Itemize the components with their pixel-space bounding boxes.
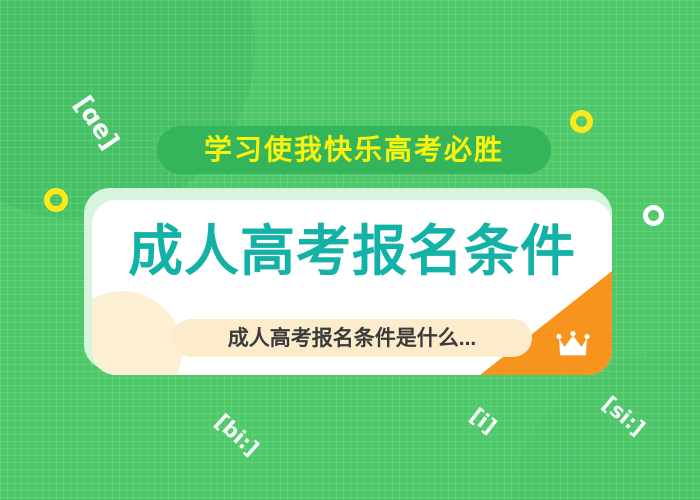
crown-icon xyxy=(556,331,590,357)
yellow-ring-top-right-icon xyxy=(570,110,593,133)
card-subtitle-text: 成人高考报名条件是什么... xyxy=(228,328,477,349)
poster-canvas: [ɑe] [bi:] [i] [si:] 学习使我快乐高考必胜 成人高考报名条件… xyxy=(0,0,700,500)
white-ring-right-icon xyxy=(643,205,664,226)
slogan-banner: 学习使我快乐高考必胜 xyxy=(157,126,551,174)
card-title: 成人高考报名条件 xyxy=(92,224,612,279)
yellow-ring-left-icon xyxy=(44,188,68,212)
slogan-text: 学习使我快乐高考必胜 xyxy=(204,136,504,164)
main-card: 成人高考报名条件 成人高考报名条件是什么... xyxy=(92,200,612,375)
card-glow-accent xyxy=(92,291,182,375)
card-subtitle-pill: 成人高考报名条件是什么... xyxy=(172,319,532,357)
